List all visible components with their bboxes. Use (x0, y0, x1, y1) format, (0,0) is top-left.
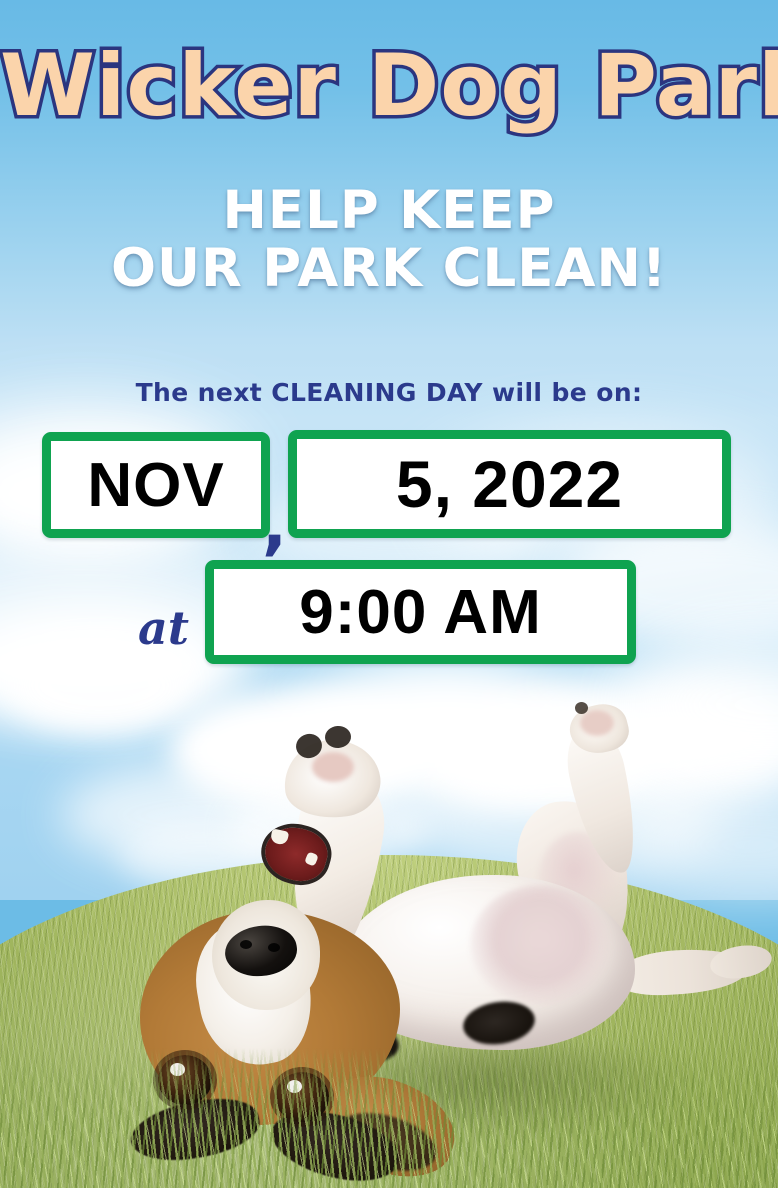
poster-subtitle: HELP KEEP OUR PARK CLEAN! (0, 182, 778, 298)
month-field[interactable]: NOV (42, 432, 270, 538)
foreground-grass-blades (0, 1048, 778, 1188)
dog-raised-paw-nail (575, 702, 588, 714)
dog-raised-paw-pad (580, 710, 614, 736)
time-field[interactable]: 9:00 AM (205, 560, 636, 664)
dog-nostril-right (268, 943, 280, 952)
dog-belly-shading (470, 885, 610, 1005)
poster: Wicker Dog Park HELP KEEP OUR PARK CLEAN… (0, 0, 778, 1188)
day-year-field[interactable]: 5, 2022 (288, 430, 731, 538)
dog-nostril-left (240, 940, 252, 949)
cleaning-day-prompt: The next CLEANING DAY will be on: (0, 378, 778, 407)
date-separator-comma: , (262, 492, 287, 558)
dog-front-paw-pad (312, 752, 354, 782)
poster-title: Wicker Dog Park (0, 36, 778, 136)
at-label: at (138, 605, 189, 651)
dog-photo (120, 780, 720, 1188)
